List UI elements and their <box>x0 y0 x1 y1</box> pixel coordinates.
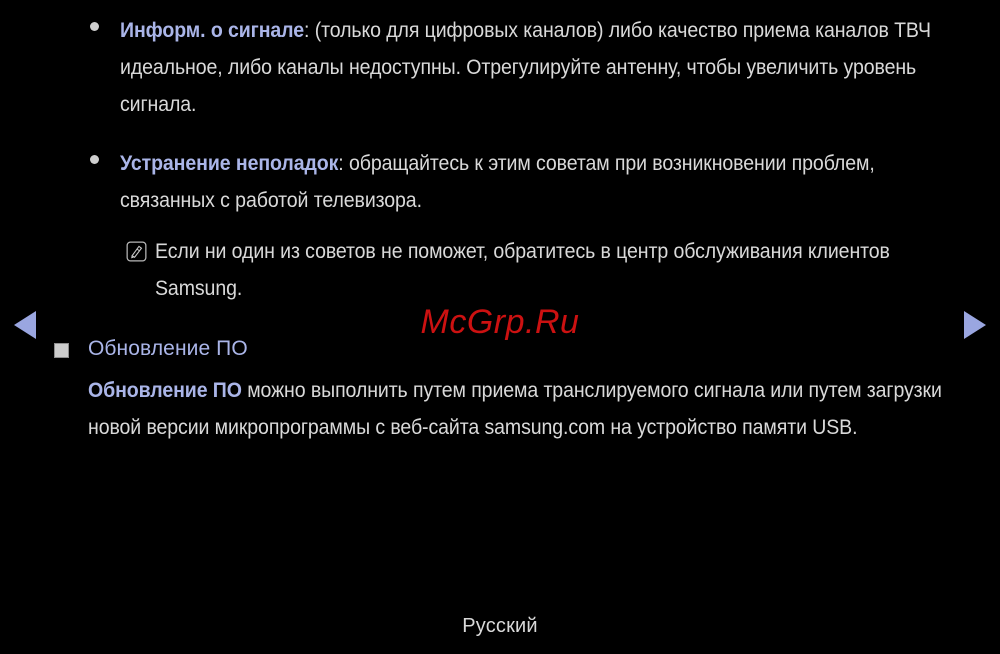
note-item: Если ни один из советов не поможет, обра… <box>0 233 1000 307</box>
tv-manual-page: Информ. о сигнале: (только для цифровых … <box>0 0 1000 654</box>
bullet-dot-icon <box>90 155 99 164</box>
note-pen-icon <box>126 241 147 262</box>
bullet-item: Информ. о сигнале: (только для цифровых … <box>0 12 1000 123</box>
bullet-paragraph: Информ. о сигнале: (только для цифровых … <box>120 12 974 123</box>
note-paragraph: Если ни один из советов не поможет, обра… <box>155 233 974 307</box>
bullet-item: Устранение неполадок: обращайтесь к этим… <box>0 145 1000 219</box>
bullet-term: Информ. о сигнале <box>120 19 304 42</box>
language-label: Русский <box>0 615 1000 638</box>
bullet-dot-icon <box>90 22 99 31</box>
bullet-paragraph: Устранение неполадок: обращайтесь к этим… <box>120 145 974 219</box>
section-body: Обновление ПО можно выполнить путем прие… <box>88 372 978 446</box>
section-body-term: Обновление ПО <box>88 379 242 402</box>
section-title: Обновление ПО <box>88 333 978 365</box>
bullet-term: Устранение неполадок <box>120 152 338 175</box>
square-bullet-icon <box>54 343 69 358</box>
section-heading-row: Обновление ПО Обновление ПО можно выполн… <box>0 333 1000 446</box>
section-paragraph: Обновление ПО можно выполнить путем прие… <box>88 372 974 446</box>
page-content: Информ. о сигнале: (только для цифровых … <box>0 0 1000 446</box>
